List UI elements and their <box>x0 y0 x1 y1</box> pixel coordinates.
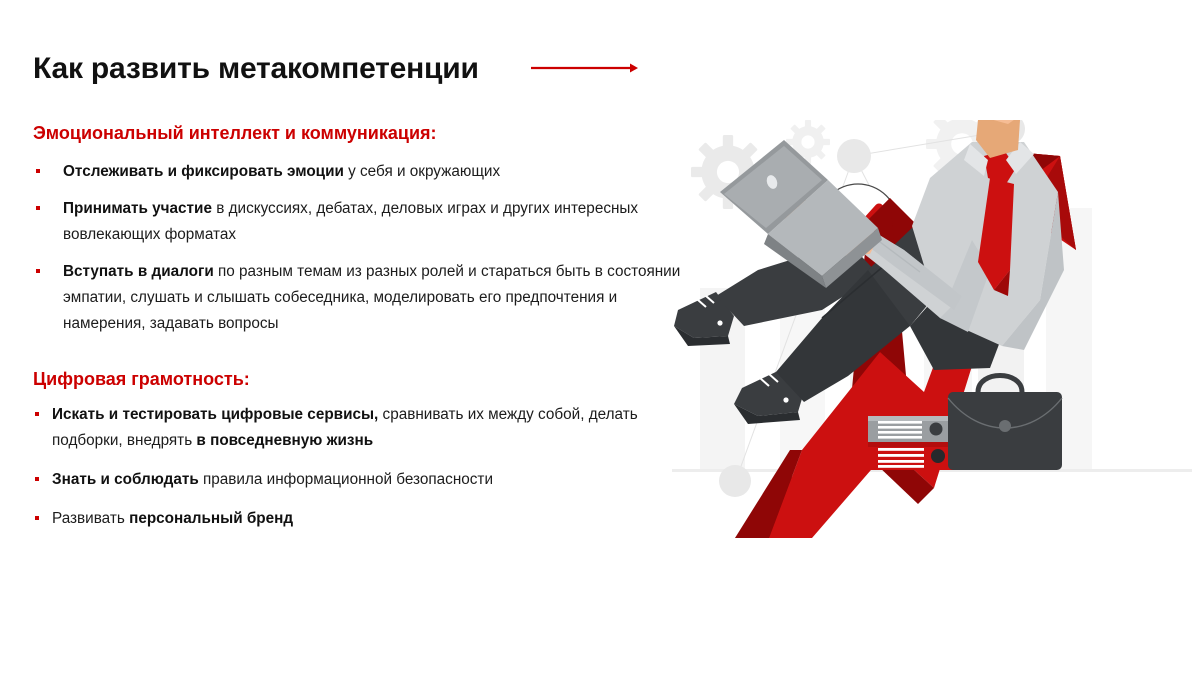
list-item-text: Развивать <box>52 510 129 527</box>
title-row: Как развить метакомпетенции <box>33 46 683 90</box>
list-item: Вступать в диалоги по разным темам из ра… <box>33 259 683 337</box>
businessman-growth-illustration <box>672 120 1200 550</box>
list-item-bold: Знать и соблюдать <box>52 471 199 488</box>
slide-root: Как развить метакомпетенции Эмоциональны… <box>0 0 1200 675</box>
list-item-bold: Искать и тестировать цифровые сервисы, <box>52 406 378 423</box>
bullet-dot-icon <box>35 477 39 481</box>
list-item: Отслеживать и фиксировать эмоции у себя … <box>33 159 683 185</box>
content-column: Как развить метакомпетенции Эмоциональны… <box>33 46 683 545</box>
arrow-right-icon <box>531 61 639 75</box>
bullet-list-digital-literacy: Искать и тестировать цифровые сервисы, с… <box>33 402 683 532</box>
bullet-dot-icon <box>36 169 40 173</box>
bullet-list-emotional-intelligence: Отслеживать и фиксировать эмоции у себя … <box>33 159 683 337</box>
page-title: Как развить метакомпетенции <box>33 52 479 85</box>
bullet-dot-icon <box>36 269 40 273</box>
bullet-dot-icon <box>35 516 39 520</box>
bullet-dot-icon <box>35 412 39 416</box>
illustration-svg <box>672 120 1200 550</box>
section-heading-digital-literacy: Цифровая грамотность: <box>33 369 683 391</box>
list-item: Развивать персональный бренд <box>33 506 683 532</box>
list-item-bold: Вступать в диалоги <box>63 263 214 280</box>
list-item-bold-tail: в повседневную жизнь <box>196 432 373 449</box>
list-item-bold: Принимать участие <box>63 200 212 217</box>
list-item: Знать и соблюдать правила информационной… <box>33 467 683 493</box>
list-item-bold: Отслеживать и фиксировать эмоции <box>63 163 344 180</box>
list-item: Принимать участие в дискуссиях, дебатах,… <box>33 196 683 248</box>
list-item-bold-tail: персональный бренд <box>129 510 293 527</box>
section-heading-emotional-intelligence: Эмоциональный интеллект и коммуникация: <box>33 123 683 145</box>
list-item-text: у себя и окружающих <box>344 163 500 180</box>
list-item-text: правила информационной безопасности <box>199 471 493 488</box>
list-item: Искать и тестировать цифровые сервисы, с… <box>33 402 683 454</box>
bullet-dot-icon <box>36 206 40 210</box>
